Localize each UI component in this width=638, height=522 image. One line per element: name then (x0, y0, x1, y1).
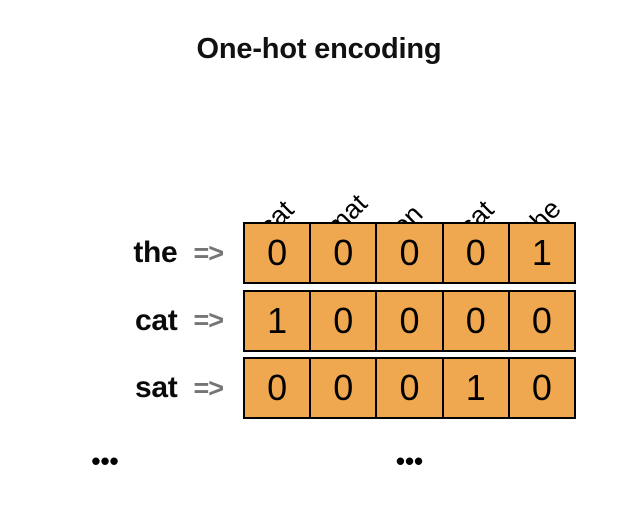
matrix-cell: 0 (245, 359, 311, 417)
row-label-word: cat (135, 304, 177, 338)
matrix-cell: 0 (377, 292, 443, 350)
matrix-cell: 0 (510, 359, 574, 417)
matrix-cell: 0 (377, 224, 443, 282)
matrix-cell: 0 (377, 359, 443, 417)
matrix-cell: 0 (245, 224, 311, 282)
one-hot-encoding-figure: One-hot encoding catmatonsatthe the=>cat… (0, 0, 638, 522)
row-ellipsis: ••• (0, 448, 210, 474)
column-header-the: the (519, 193, 546, 220)
row-arrow-icon: => (193, 238, 223, 269)
table-row: 00001 (243, 222, 576, 284)
column-header-on: on (386, 199, 407, 220)
matrix-cell: 0 (444, 224, 510, 282)
table-row: 10000 (243, 290, 576, 352)
matrix-ellipsis: ••• (243, 448, 576, 474)
page-title: One-hot encoding (0, 33, 638, 66)
column-header-mat: mat (320, 188, 352, 220)
row-label-word: the (133, 236, 177, 270)
matrix-cell: 1 (444, 359, 510, 417)
matrix-cell: 0 (311, 292, 377, 350)
matrix-cell: 1 (510, 224, 574, 282)
table-row: 00010 (243, 357, 576, 419)
matrix-cell: 0 (311, 224, 377, 282)
row-label-word: sat (135, 371, 177, 405)
row-arrow-icon: => (193, 373, 223, 404)
column-header-group: catmatonsatthe (243, 120, 576, 220)
row-label-cat: cat=> (0, 290, 243, 352)
matrix-cell: 1 (245, 292, 311, 350)
row-label-group: the=>cat=>sat=> (0, 222, 243, 419)
row-label-the: the=> (0, 222, 243, 284)
encoding-matrix: 000011000000010 (243, 222, 576, 419)
matrix-cell: 0 (444, 292, 510, 350)
row-label-sat: sat=> (0, 357, 243, 419)
row-arrow-icon: => (193, 305, 223, 336)
matrix-cell: 0 (510, 292, 574, 350)
matrix-cell: 0 (311, 359, 377, 417)
column-header-sat: sat (453, 195, 478, 220)
column-header-cat: cat (253, 195, 278, 220)
